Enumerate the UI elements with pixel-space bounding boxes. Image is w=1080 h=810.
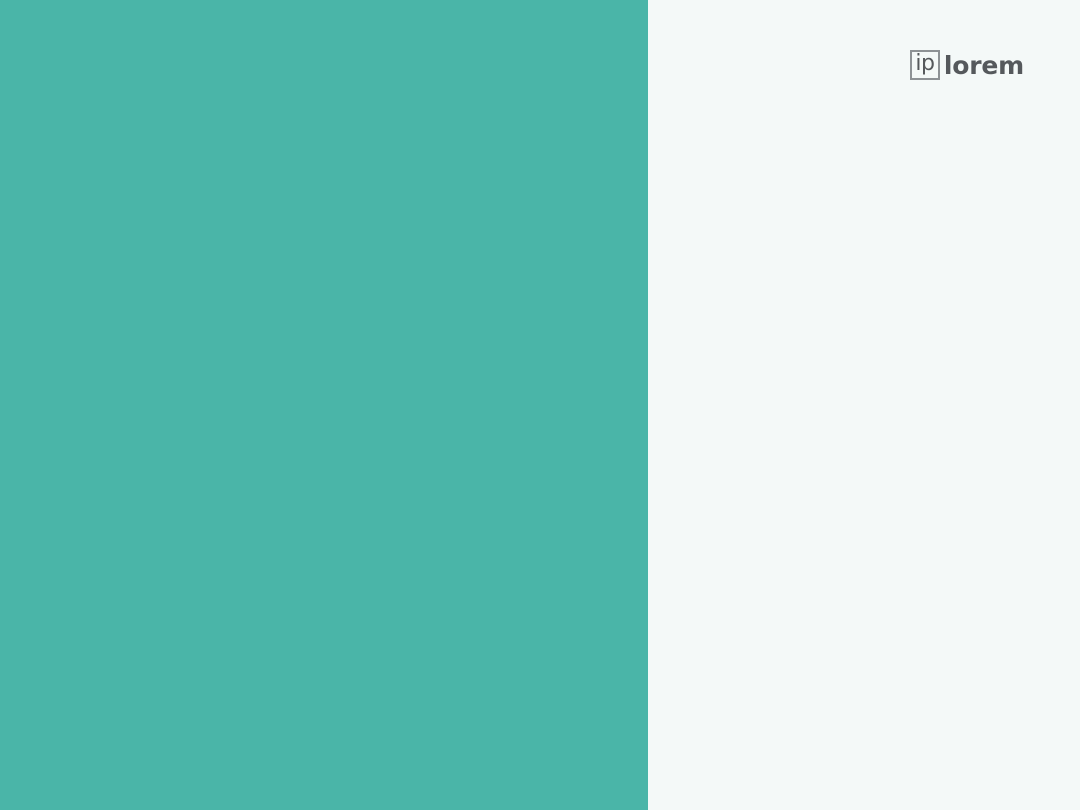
slide-root: ip lorem Versatile customer happiness Se… [0, 0, 1080, 810]
decorative-color-panel [0, 0, 648, 810]
logo-mark-icon: ip [910, 50, 940, 80]
logo-mark-label: ip [915, 53, 934, 75]
brand-logo[interactable]: ip lorem [910, 50, 1024, 80]
content-panel: ip lorem Versatile customer happiness Se… [648, 0, 1080, 810]
logo-wordmark: lorem [944, 53, 1024, 78]
